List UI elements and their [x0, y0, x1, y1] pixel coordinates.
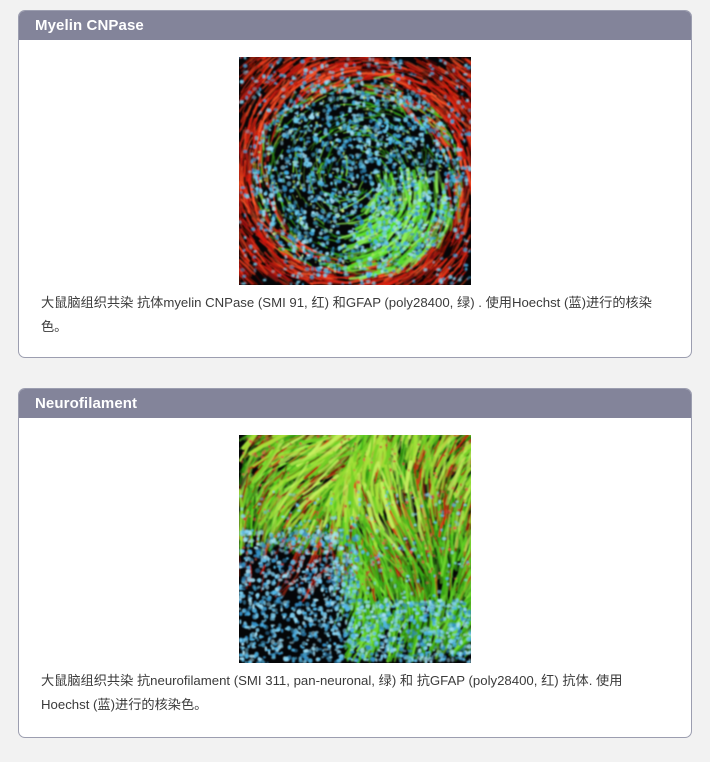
figure-caption: 大鼠脑组织共染 抗neurofilament (SMI 311, pan-neu… [19, 669, 691, 737]
card-title: Myelin CNPase [35, 18, 144, 33]
card-title: Neurofilament [35, 396, 137, 411]
myelin-cnpase-micrograph [239, 57, 471, 285]
neurofilament-micrograph [239, 435, 471, 663]
figure-wrap [19, 418, 691, 669]
card-header-neurofilament: Neurofilament [19, 389, 691, 418]
card-body-neurofilament: 大鼠脑组织共染 抗neurofilament (SMI 311, pan-neu… [19, 418, 691, 737]
figure-wrap [19, 40, 691, 291]
card-neurofilament: Neurofilament 大鼠脑组织共染 抗neurofilament (SM… [18, 388, 692, 738]
page-container: Myelin CNPase 大鼠脑组织共染 抗体myelin CNPase (S… [0, 0, 710, 762]
card-header-myelin-cnpase: Myelin CNPase [19, 11, 691, 40]
card-myelin-cnpase: Myelin CNPase 大鼠脑组织共染 抗体myelin CNPase (S… [18, 10, 692, 358]
card-body-myelin-cnpase: 大鼠脑组织共染 抗体myelin CNPase (SMI 91, 红) 和GFA… [19, 40, 691, 357]
figure-caption: 大鼠脑组织共染 抗体myelin CNPase (SMI 91, 红) 和GFA… [19, 291, 691, 357]
